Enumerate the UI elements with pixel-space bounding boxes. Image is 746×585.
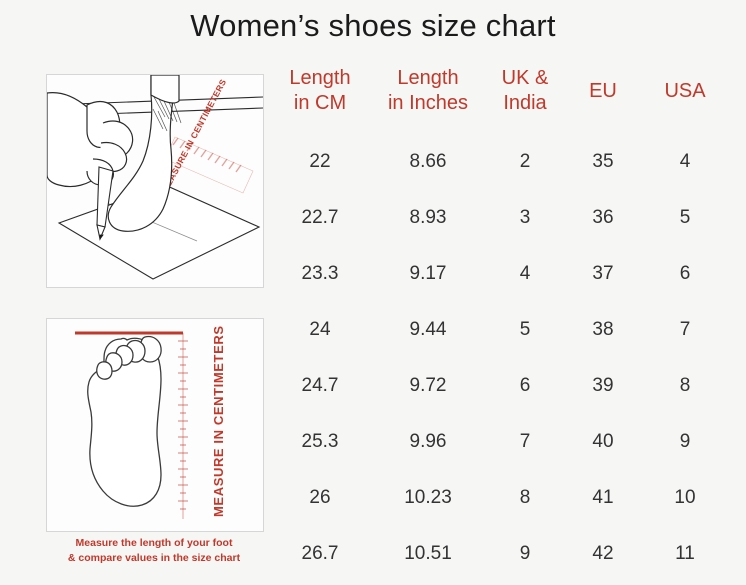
cell-usa: 5 <box>640 190 730 246</box>
illustration-measuring-foot: MEASURE IN CENTIMETERS <box>46 74 264 288</box>
cell-eu: 38 <box>566 302 640 358</box>
column-header-eu: EU <box>566 66 640 134</box>
cell-usa: 7 <box>640 302 730 358</box>
cell-length-inches: 9.96 <box>372 414 484 470</box>
table-row: 25.3 9.96 7 40 9 <box>268 414 730 470</box>
column-header-length-inches: Length in Inches <box>372 66 484 134</box>
table-body: 22 8.66 2 35 4 22.7 8.93 3 36 5 23.3 9.1… <box>268 134 730 582</box>
cell-length-cm: 24.7 <box>268 358 372 414</box>
cell-usa: 4 <box>640 134 730 190</box>
cell-length-inches: 10.23 <box>372 470 484 526</box>
table-row: 26 10.23 8 41 10 <box>268 470 730 526</box>
cell-eu: 40 <box>566 414 640 470</box>
cell-uk-india: 7 <box>484 414 566 470</box>
cell-eu: 39 <box>566 358 640 414</box>
cell-length-cm: 23.3 <box>268 246 372 302</box>
table-row: 22.7 8.93 3 36 5 <box>268 190 730 246</box>
illustration-caption: Measure the length of your foot & compar… <box>46 536 262 566</box>
cell-eu: 41 <box>566 470 640 526</box>
cell-eu: 36 <box>566 190 640 246</box>
cell-length-inches: 8.66 <box>372 134 484 190</box>
cell-uk-india: 4 <box>484 246 566 302</box>
cell-eu: 42 <box>566 526 640 582</box>
cell-usa: 6 <box>640 246 730 302</box>
cell-length-cm: 22.7 <box>268 190 372 246</box>
size-chart-table: Length in CM Length in Inches UK & India… <box>268 66 730 582</box>
cell-uk-india: 9 <box>484 526 566 582</box>
table-row: 26.7 10.51 9 42 11 <box>268 526 730 582</box>
cell-length-inches: 10.51 <box>372 526 484 582</box>
cell-uk-india: 2 <box>484 134 566 190</box>
cell-usa: 11 <box>640 526 730 582</box>
table-row: 22 8.66 2 35 4 <box>268 134 730 190</box>
footprint-illustration-svg: MEASURE IN CENTIMETERS <box>47 319 263 531</box>
cell-length-cm: 22 <box>268 134 372 190</box>
column-header-uk-india: UK & India <box>484 66 566 134</box>
cell-usa: 9 <box>640 414 730 470</box>
table-header: Length in CM Length in Inches UK & India… <box>268 66 730 134</box>
ruler-label: MEASURE IN CENTIMETERS <box>211 325 226 517</box>
caption-line-1: Measure the length of your foot <box>46 536 262 551</box>
table-header-row: Length in CM Length in Inches UK & India… <box>268 66 730 134</box>
caption-line-2: & compare values in the size chart <box>46 551 262 566</box>
cell-uk-india: 6 <box>484 358 566 414</box>
page-title: Women’s shoes size chart <box>0 8 746 44</box>
cell-eu: 37 <box>566 246 640 302</box>
cell-usa: 10 <box>640 470 730 526</box>
cell-length-cm: 26 <box>268 470 372 526</box>
illustration-footprint-ruler: MEASURE IN CENTIMETERS <box>46 318 264 532</box>
cell-length-inches: 9.72 <box>372 358 484 414</box>
cell-uk-india: 3 <box>484 190 566 246</box>
column-header-usa: USA <box>640 66 730 134</box>
table-row: 24 9.44 5 38 7 <box>268 302 730 358</box>
cell-usa: 8 <box>640 358 730 414</box>
cell-length-cm: 26.7 <box>268 526 372 582</box>
cell-uk-india: 5 <box>484 302 566 358</box>
table-row: 23.3 9.17 4 37 6 <box>268 246 730 302</box>
table-row: 24.7 9.72 6 39 8 <box>268 358 730 414</box>
cell-length-cm: 24 <box>268 302 372 358</box>
cell-eu: 35 <box>566 134 640 190</box>
cell-length-inches: 9.44 <box>372 302 484 358</box>
cell-length-cm: 25.3 <box>268 414 372 470</box>
measuring-foot-illustration-svg: MEASURE IN CENTIMETERS <box>47 75 263 287</box>
cell-uk-india: 8 <box>484 470 566 526</box>
column-header-length-cm: Length in CM <box>268 66 372 134</box>
cell-length-inches: 9.17 <box>372 246 484 302</box>
cell-length-inches: 8.93 <box>372 190 484 246</box>
